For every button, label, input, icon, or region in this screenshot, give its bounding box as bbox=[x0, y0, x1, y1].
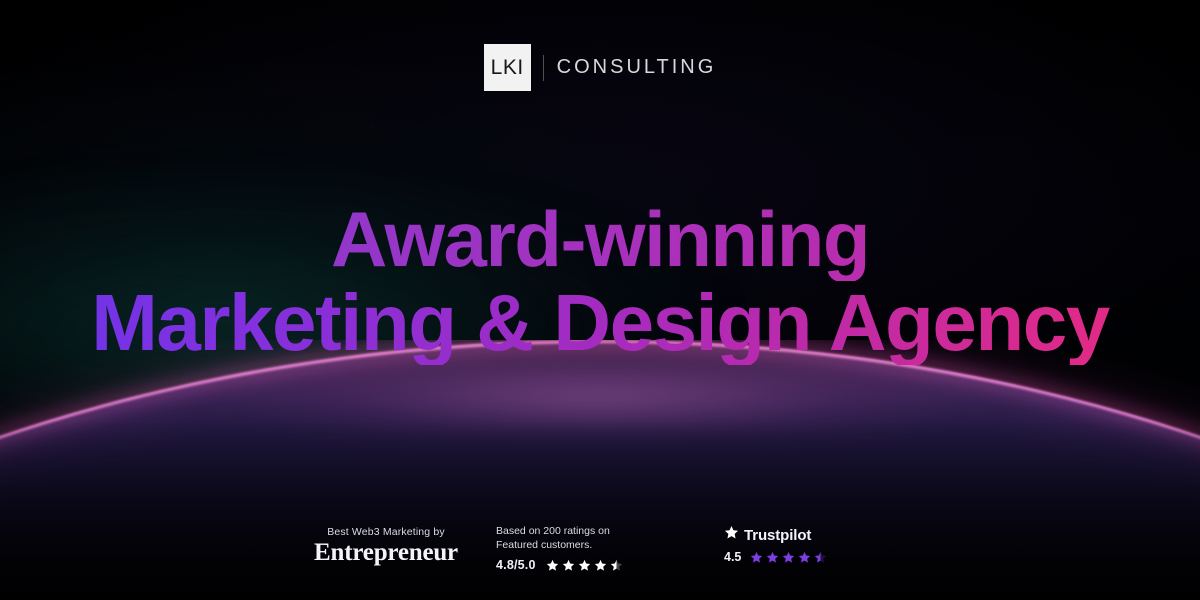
star-icon bbox=[750, 551, 763, 564]
logo-mark: LKI bbox=[484, 44, 531, 91]
ratings-line-2: Featured customers. bbox=[496, 539, 724, 553]
ratings-line-1: Based on 200 ratings on bbox=[496, 525, 724, 539]
star-icon bbox=[594, 559, 607, 572]
ratings-score-row: 4.8/5.0 bbox=[496, 558, 724, 572]
badge-trustpilot[interactable]: Trustpilot 4.5 bbox=[724, 523, 924, 564]
logo-separator bbox=[543, 55, 544, 81]
star-icon bbox=[562, 559, 575, 572]
hero-section: LKI CONSULTING Award-winning Marketing &… bbox=[0, 0, 1200, 600]
star-icon bbox=[546, 559, 559, 572]
star-icon bbox=[578, 559, 591, 572]
entrepreneur-eyebrow: Best Web3 Marketing by bbox=[276, 526, 496, 538]
star-icon bbox=[782, 551, 795, 564]
badge-featured-customers[interactable]: Based on 200 ratings on Featured custome… bbox=[496, 523, 724, 572]
trustpilot-wordmark: Trustpilot bbox=[744, 527, 811, 544]
page-title: Award-winning Marketing & Design Agency bbox=[0, 199, 1200, 365]
entrepreneur-wordmark: Entrepreneur bbox=[276, 540, 496, 566]
star-icon bbox=[610, 559, 623, 572]
brand-logo[interactable]: LKI CONSULTING bbox=[0, 44, 1200, 91]
star-icon bbox=[766, 551, 779, 564]
logo-wordmark: CONSULTING bbox=[557, 56, 717, 79]
ratings-star-rating bbox=[546, 559, 623, 572]
ratings-score: 4.8/5.0 bbox=[496, 558, 536, 572]
headline-line-1: Award-winning bbox=[0, 199, 1200, 281]
trustpilot-score-row: 4.5 bbox=[724, 550, 924, 564]
social-proof-row: Best Web3 Marketing by Entrepreneur Base… bbox=[0, 523, 1200, 572]
star-icon bbox=[724, 525, 739, 545]
headline-line-2: Marketing & Design Agency bbox=[0, 281, 1200, 365]
trustpilot-score: 4.5 bbox=[724, 550, 741, 564]
trustpilot-star-rating bbox=[750, 551, 827, 564]
star-icon bbox=[798, 551, 811, 564]
trustpilot-logo: Trustpilot bbox=[724, 525, 924, 545]
star-icon bbox=[814, 551, 827, 564]
badge-entrepreneur[interactable]: Best Web3 Marketing by Entrepreneur bbox=[276, 523, 496, 566]
